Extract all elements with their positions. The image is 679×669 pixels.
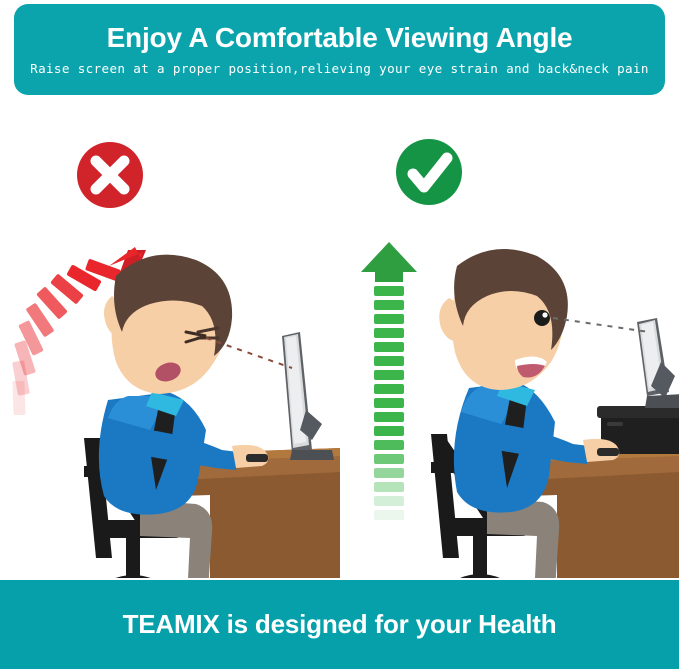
illustration-area xyxy=(0,100,679,578)
dashed-gaze-line-icon xyxy=(553,318,649,332)
monitor xyxy=(282,332,334,460)
mouse xyxy=(597,448,619,456)
check-circle-icon xyxy=(396,139,462,205)
mouse xyxy=(246,454,268,462)
person-head xyxy=(439,249,568,390)
footer-banner: TEAMIX is designed for your Health xyxy=(0,580,679,669)
panel-incorrect-posture xyxy=(0,100,340,578)
cross-circle-icon xyxy=(77,142,143,208)
brand-tagline: TEAMIX is designed for your Health xyxy=(123,609,557,640)
page-subtitle: Raise screen at a proper position,reliev… xyxy=(30,61,649,76)
header-banner: Enjoy A Comfortable Viewing Angle Raise … xyxy=(14,4,665,95)
panel-correct-posture xyxy=(339,100,679,578)
green-up-arrow-icon xyxy=(361,242,417,520)
person-head xyxy=(104,255,232,394)
page-title: Enjoy A Comfortable Viewing Angle xyxy=(107,23,573,54)
